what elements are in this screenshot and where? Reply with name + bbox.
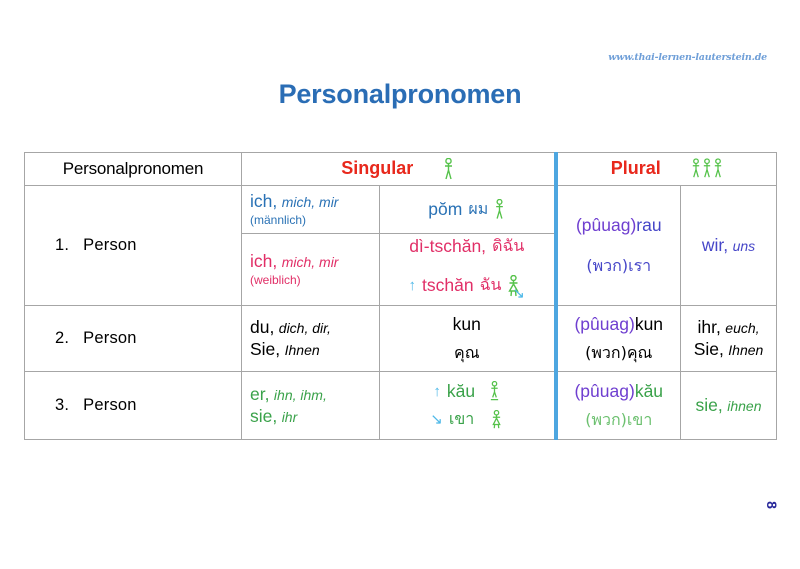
table-header-row: Personalpronomen Singular (25, 153, 777, 186)
thai-roman-pom: pŏm (428, 199, 462, 220)
header-cell-singular: Singular (242, 153, 556, 186)
person-word: Person (83, 236, 136, 254)
person-word: Person (83, 396, 136, 414)
thai-roman-dichan: dì-tschăn, (409, 236, 486, 257)
pronoun-ich-f: ich, (250, 251, 277, 271)
gender-note-weiblich: (weiblich) (250, 273, 374, 287)
table-row: 2.Person du, dich, dir, Sie, Ihnen (25, 306, 777, 372)
thai-script-kun: คุณ (385, 344, 549, 363)
plural-word-rau: rau (636, 215, 661, 235)
male-figure-icon (494, 199, 505, 220)
pronoun-sie-pl: sie, (696, 395, 723, 415)
thai-script-kau: เขา (449, 410, 474, 429)
pronoun-sie: sie, (250, 406, 277, 426)
german-singular-maennlich: ich, mich, mir (männlich) (242, 186, 380, 234)
thai-roman-kun: kun (385, 314, 549, 335)
thai-chan-line: ↑ tschăn ฉัน ↘ (385, 269, 549, 303)
plural-word-kun: kun (635, 314, 663, 334)
pronoun-uns: uns (733, 238, 756, 254)
plural-prefix-puuag: (pûuag) (574, 381, 634, 401)
pronoun-michmir-m: mich, mir (282, 194, 339, 210)
pronoun-wir: wir, (702, 235, 728, 255)
thai-roman-kau: kău (447, 381, 475, 402)
person-number: 3. (55, 396, 69, 414)
pronoun-sie-formal-pl: Sie, (694, 339, 724, 359)
thai-kau-roman-line: ↑ kău (385, 381, 549, 402)
person-label-1: 1.Person (25, 186, 242, 306)
gender-note-maennlich: (männlich) (250, 213, 374, 227)
person-label-2: 2.Person (25, 306, 242, 372)
pronoun-michmir-f: mich, mir (282, 254, 339, 270)
pronoun-ihr: ihr (282, 409, 298, 425)
thai-script-dichan: ดิฉัน (492, 237, 524, 256)
female-figure-icon (490, 410, 503, 430)
german-singular-weiblich: ich, mich, mir (weiblich) (242, 234, 380, 306)
german-plural-3p: sie, ihnen (681, 372, 777, 440)
pronoun-euch: euch, (725, 320, 759, 336)
plural-word-kau: kău (635, 381, 663, 401)
person-word: Person (83, 329, 136, 347)
thai-singular-2p: kun คุณ (380, 306, 556, 372)
person-label-3: 3.Person (25, 372, 242, 440)
german-singular-2p: du, dich, dir, Sie, Ihnen (242, 306, 380, 372)
arrow-down-right-icon: ↘ (512, 285, 525, 303)
pronoun-ihnen-3p: ihnen (727, 398, 761, 414)
pronoun-er: er, (250, 384, 269, 404)
thai-script-pom: ผม (468, 200, 488, 219)
arrow-down-right-icon: ↘ (430, 411, 443, 429)
german-plural-2p: ihr, euch, Sie, Ihnen (681, 306, 777, 372)
arrow-up-icon: ↑ (409, 277, 417, 295)
slide-canvas: www.thai-lernen-lauterstein.de Personalp… (0, 0, 800, 569)
pronoun-ihnihm: ihn, ihm, (274, 387, 327, 403)
single-person-icon (443, 158, 454, 180)
three-persons-icon (691, 158, 723, 179)
thai-plural-3p: (pûuag)kău (พวก)เขา (556, 372, 681, 440)
german-plural-1p: wir, uns (681, 186, 777, 306)
table-row: 3.Person er, ihn, ihm, sie, ihr (25, 372, 777, 440)
arrow-up-icon: ↑ (433, 383, 441, 401)
header-plural-label: Plural (611, 158, 661, 179)
pronoun-table-wrapper: Personalpronomen Singular (24, 152, 776, 440)
thai-roman-chan: tschăn (422, 275, 474, 296)
german-singular-3p: er, ihn, ihm, sie, ihr (242, 372, 380, 440)
plural-prefix-puuag: (pûuag) (574, 314, 634, 334)
thai-plural-script-kau: (พวก)เขา (563, 411, 676, 430)
thai-script-chan: ฉัน (480, 276, 502, 295)
thai-dichan-line: dì-tschăn, ดิฉัน (385, 236, 549, 257)
personalpronomen-table: Personalpronomen Singular (24, 152, 777, 440)
page-title: Personalpronomen (0, 79, 800, 110)
male-figure-icon (489, 381, 500, 401)
pronoun-ihnen: Ihnen (285, 342, 320, 358)
thai-kau-script-line: ↘ เขา (385, 410, 549, 430)
pronoun-du: du, (250, 317, 274, 337)
pronoun-ich-m: ich, (250, 191, 277, 211)
thai-plural-roman-rau: (pûuag)rau (563, 215, 676, 236)
thai-plural-script-rau: (พวก)เรา (563, 257, 676, 276)
thai-plural-2p: (pûuag)kun (พวก)คุณ (556, 306, 681, 372)
thai-plural-roman-kun: (pûuag)kun (563, 314, 676, 335)
thai-singular-weiblich: dì-tschăn, ดิฉัน ↑ tschăn ฉัน (380, 234, 556, 306)
table-row: 1.Person ich, mich, mir (männlich) pŏm ผ… (25, 186, 777, 234)
thai-singular-maennlich: pŏm ผม (380, 186, 556, 234)
thai-plural-1p: (pûuag)rau (พวก)เรา (556, 186, 681, 306)
person-number: 2. (55, 329, 69, 347)
thai-plural-script-kun: (พวก)คุณ (563, 344, 676, 363)
pronoun-ihr: ihr, (697, 317, 720, 337)
thai-plural-roman-kau: (pûuag)kău (563, 381, 676, 402)
header-cell-plural: Plural (556, 153, 777, 186)
header-singular-label: Singular (341, 158, 413, 179)
pronoun-sie-formal: Sie, (250, 339, 280, 359)
pronoun-ihnen-pl: Ihnen (728, 342, 763, 358)
plural-prefix-puuag: (pûuag) (576, 215, 636, 235)
thai-singular-3p: ↑ kău ↘ เขา (380, 372, 556, 440)
person-number: 1. (55, 236, 69, 254)
website-url: www.thai-lernen-lauterstein.de (608, 52, 767, 63)
pronoun-dichdir: dich, dir, (279, 320, 331, 336)
page-number: 8 (764, 501, 780, 509)
header-cell-label: Personalpronomen (25, 153, 242, 186)
